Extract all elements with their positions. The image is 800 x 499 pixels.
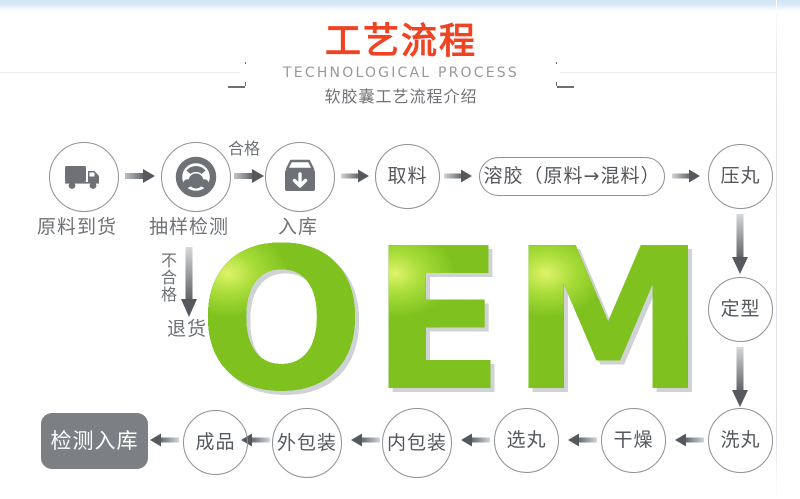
node-inner-packaging[interactable]: 内包装 (382, 408, 452, 478)
arrow-melting-to-pressing (672, 168, 702, 184)
node-sampling-inspection[interactable] (161, 142, 231, 212)
header-block: 工艺流程 TECHNOLOGICAL PROCESS 软胶囊工艺流程介绍 (245, 22, 557, 114)
node-label: 外包装 (277, 434, 337, 453)
arrow-finished-to-final-inspection (147, 432, 179, 448)
tag-fail: 不合格 (158, 252, 176, 303)
node-warehouse-in[interactable] (265, 142, 335, 212)
node-label: 洗丸 (720, 431, 760, 450)
watermark-letter-o: O (198, 236, 365, 406)
caption-raw-material-arrival: 原料到货 (37, 216, 117, 238)
top-color-band (0, 0, 800, 11)
header-hairline-right (560, 72, 776, 73)
arrow-shaping-to-washing (731, 347, 749, 409)
node-pill-washing[interactable]: 洗丸 (708, 408, 773, 473)
caption-sampling-inspection: 抽样检测 (149, 216, 229, 238)
arrow-pressing-to-shaping (731, 214, 749, 276)
arrow-drying-to-sorting (565, 432, 597, 448)
arrow-sampling-to-reject (180, 247, 198, 319)
node-outer-packaging[interactable]: 外包装 (272, 408, 342, 478)
node-material-pickup[interactable]: 取料 (375, 144, 440, 209)
arrow-sorting-to-inner-packaging (458, 432, 490, 448)
page-subtitle-en: TECHNOLOGICAL PROCESS (245, 64, 557, 82)
watermark-letter-e: E (371, 236, 505, 406)
header-hairline-left (0, 72, 240, 73)
node-raw-material-arrival[interactable] (49, 142, 119, 212)
oem-watermark: O E M (196, 236, 708, 406)
header-tick-left (228, 86, 246, 88)
node-reject: 退货 (167, 318, 207, 340)
node-label: 内包装 (387, 434, 447, 453)
node-gelatin-melting[interactable]: 溶胶（原料→混料） (479, 157, 665, 196)
arrow-washing-to-drying (672, 432, 704, 448)
node-label: 成品 (195, 433, 235, 452)
arrow-warehouse-to-pickup (341, 168, 371, 184)
node-label: 压丸 (720, 167, 760, 186)
node-pill-pressing[interactable]: 压丸 (708, 144, 773, 209)
node-label: 干燥 (613, 431, 653, 450)
node-label: 取料 (387, 167, 427, 186)
right-edge-rule (776, 0, 777, 499)
tag-pass: 合格 (228, 140, 260, 158)
infographic-canvas: 工艺流程 TECHNOLOGICAL PROCESS 软胶囊工艺流程介绍 O E… (0, 0, 800, 499)
arrow-pickup-to-melting (444, 168, 474, 184)
node-final-inspection-storage[interactable]: 检测入库 (41, 413, 148, 469)
node-shaping[interactable]: 定型 (708, 277, 773, 342)
inspection-icon (174, 155, 218, 199)
truck-icon (64, 163, 104, 191)
node-finished-product[interactable]: 成品 (183, 410, 248, 475)
node-label: 选丸 (506, 431, 546, 450)
arrow-sampling-to-warehouse (234, 168, 266, 184)
node-drying[interactable]: 干燥 (601, 408, 666, 473)
arrow-inner-to-outer-packaging (348, 432, 380, 448)
node-label: 检测入库 (51, 432, 139, 451)
header-tick-right (556, 86, 574, 88)
page-subtitle-cn: 软胶囊工艺流程介绍 (245, 86, 557, 108)
node-label: 定型 (720, 300, 760, 319)
watermark-letter-m: M (511, 236, 706, 406)
page-title: 工艺流程 (245, 22, 557, 62)
node-label: 溶胶（原料→混料） (484, 167, 661, 186)
inbox-down-arrow-icon (281, 159, 319, 195)
node-pill-sorting[interactable]: 选丸 (494, 408, 559, 473)
caption-warehouse-in: 入库 (278, 216, 318, 238)
arrow-arrival-to-sampling (125, 168, 157, 184)
